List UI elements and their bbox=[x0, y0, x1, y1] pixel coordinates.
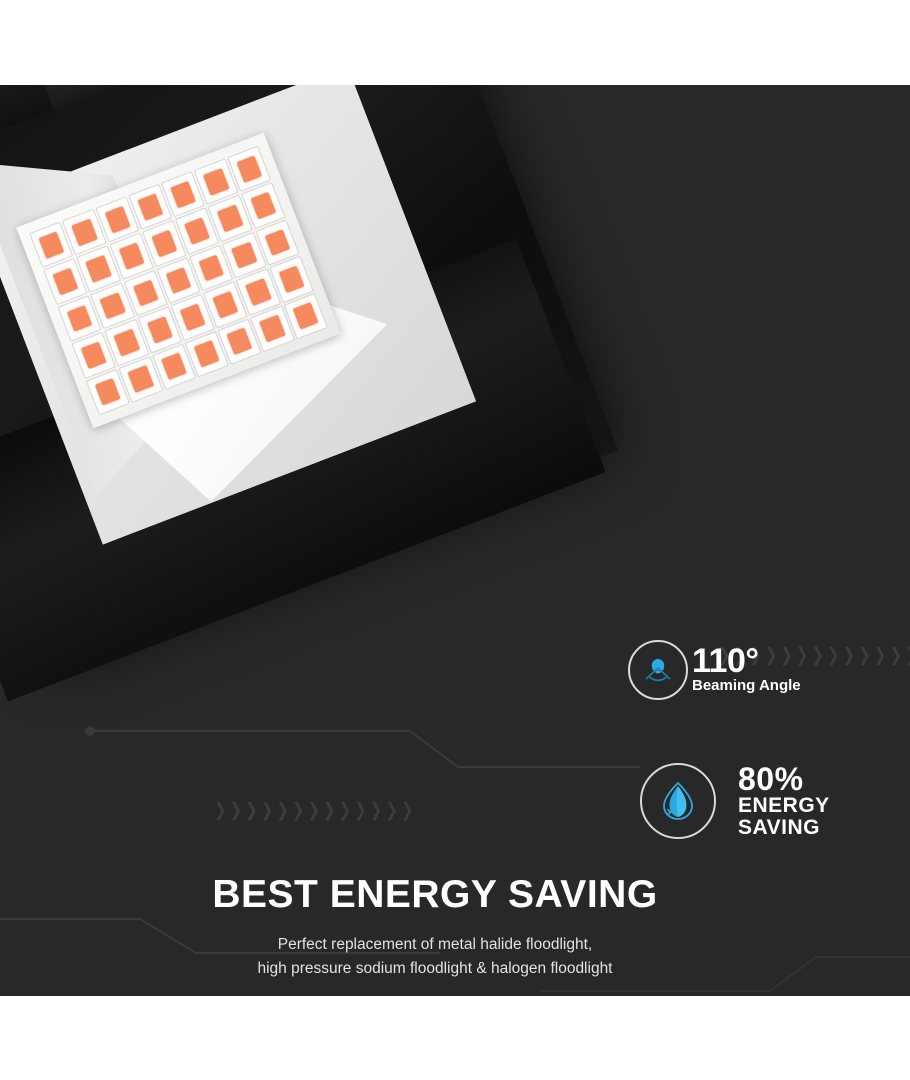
chevron-icon: ❯ bbox=[827, 646, 840, 665]
badge-energy-saving: 80% ENERGY SAVING bbox=[640, 763, 830, 840]
chevron-icon: ❯ bbox=[339, 801, 352, 820]
circuit-trace-upper bbox=[80, 705, 640, 785]
subcopy-line-2: high pressure sodium floodlight & haloge… bbox=[0, 957, 870, 981]
chevron-icon: ❯ bbox=[370, 801, 383, 820]
badge-text: 110° Beaming Angle bbox=[692, 645, 801, 695]
chevron-icon: ❯ bbox=[354, 801, 367, 820]
marketing-banner: ❯❯❯❯❯❯❯❯❯❯❯❯❯ ❯❯❯❯❯❯❯❯❯❯❯❯❯ 110° Beaming… bbox=[0, 0, 910, 1080]
chevron-icon: ❯ bbox=[214, 801, 227, 820]
chevron-icon: ❯ bbox=[385, 801, 398, 820]
energy-saving-label-line1: ENERGY bbox=[738, 795, 830, 817]
badge-ring bbox=[640, 763, 716, 839]
chevron-icon: ❯ bbox=[230, 801, 243, 820]
chevron-icon: ❯ bbox=[843, 646, 856, 665]
headline: BEST ENERGY SAVING bbox=[0, 873, 910, 917]
chevron-icon: ❯ bbox=[811, 646, 824, 665]
beaming-angle-label: Beaming Angle bbox=[692, 678, 801, 695]
chevron-icon: ❯ bbox=[292, 801, 305, 820]
beaming-angle-value: 110° bbox=[692, 645, 801, 677]
chevron-icon: ❯ bbox=[401, 801, 414, 820]
chevron-icon: ❯ bbox=[905, 646, 910, 665]
beam-angle-icon bbox=[638, 650, 678, 690]
chevron-icon: ❯ bbox=[307, 801, 320, 820]
subcopy-line-1: Perfect replacement of metal halide floo… bbox=[0, 933, 870, 957]
chevron-icon: ❯ bbox=[889, 646, 902, 665]
chevron-icon: ❯ bbox=[245, 801, 258, 820]
badge-text: 80% ENERGY SAVING bbox=[738, 763, 830, 840]
chevron-icon: ❯ bbox=[874, 646, 887, 665]
chevron-icon: ❯ bbox=[323, 801, 336, 820]
badge-beaming-angle: 110° Beaming Angle bbox=[628, 640, 801, 700]
energy-leaf-icon bbox=[652, 775, 704, 827]
energy-saving-value: 80% bbox=[738, 763, 830, 795]
subcopy: Perfect replacement of metal halide floo… bbox=[0, 933, 910, 981]
chevron-icon: ❯ bbox=[261, 801, 274, 820]
chevron-icon: ❯ bbox=[858, 646, 871, 665]
badge-ring bbox=[628, 640, 688, 700]
led-floodlight-photo bbox=[0, 85, 640, 695]
chevron-row-bottom: ❯❯❯❯❯❯❯❯❯❯❯❯❯ bbox=[214, 803, 414, 818]
dark-panel: ❯❯❯❯❯❯❯❯❯❯❯❯❯ ❯❯❯❯❯❯❯❯❯❯❯❯❯ 110° Beaming… bbox=[0, 85, 910, 996]
chevron-icon: ❯ bbox=[276, 801, 289, 820]
energy-saving-label-line2: SAVING bbox=[738, 817, 830, 839]
